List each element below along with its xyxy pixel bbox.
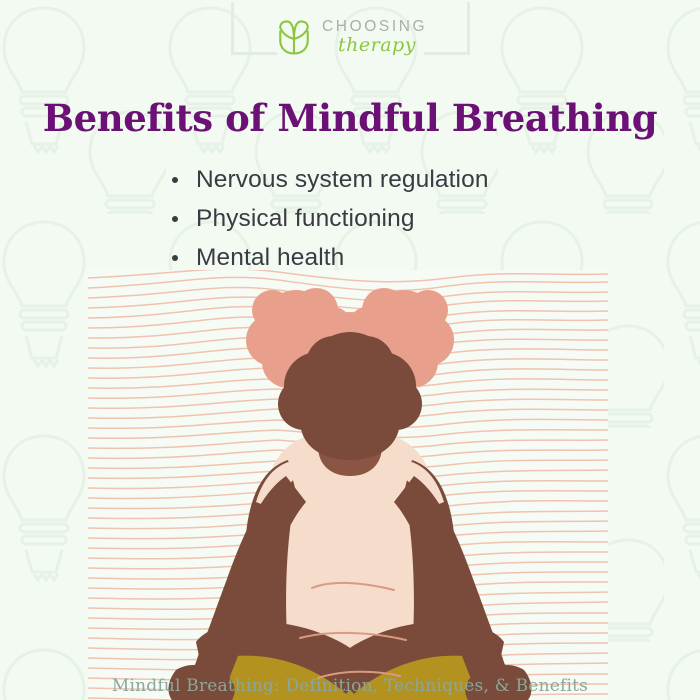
brand-logo[interactable]: CHOOSING therapy (272, 8, 432, 66)
lotus-leaf-icon (272, 15, 316, 59)
caption: Mindful Breathing: Definition, Technique… (0, 676, 700, 696)
logo-script: therapy (338, 36, 427, 55)
list-item-label: Mental health (196, 244, 344, 271)
bullet-dot-icon (172, 177, 178, 183)
list-item-label: Nervous system regulation (196, 166, 489, 193)
bullet-dot-icon (172, 255, 178, 261)
infographic-poster: CHOOSING therapy Benefits of Mindful Bre… (0, 0, 700, 700)
list-item: Nervous system regulation (168, 160, 638, 199)
page-title: Benefits of Mindful Breathing (0, 96, 700, 140)
meditating-figure (0, 270, 700, 700)
logo-word: CHOOSING (322, 19, 427, 35)
bullet-dot-icon (172, 216, 178, 222)
list-item-label: Physical functioning (196, 205, 415, 232)
illustration-woman-meditating (0, 270, 700, 700)
bracket-left-icon (231, 2, 277, 58)
list-item: Physical functioning (168, 199, 638, 238)
header: CHOOSING therapy (0, 0, 700, 80)
benefits-list: Nervous system regulation Physical funct… (168, 160, 638, 277)
